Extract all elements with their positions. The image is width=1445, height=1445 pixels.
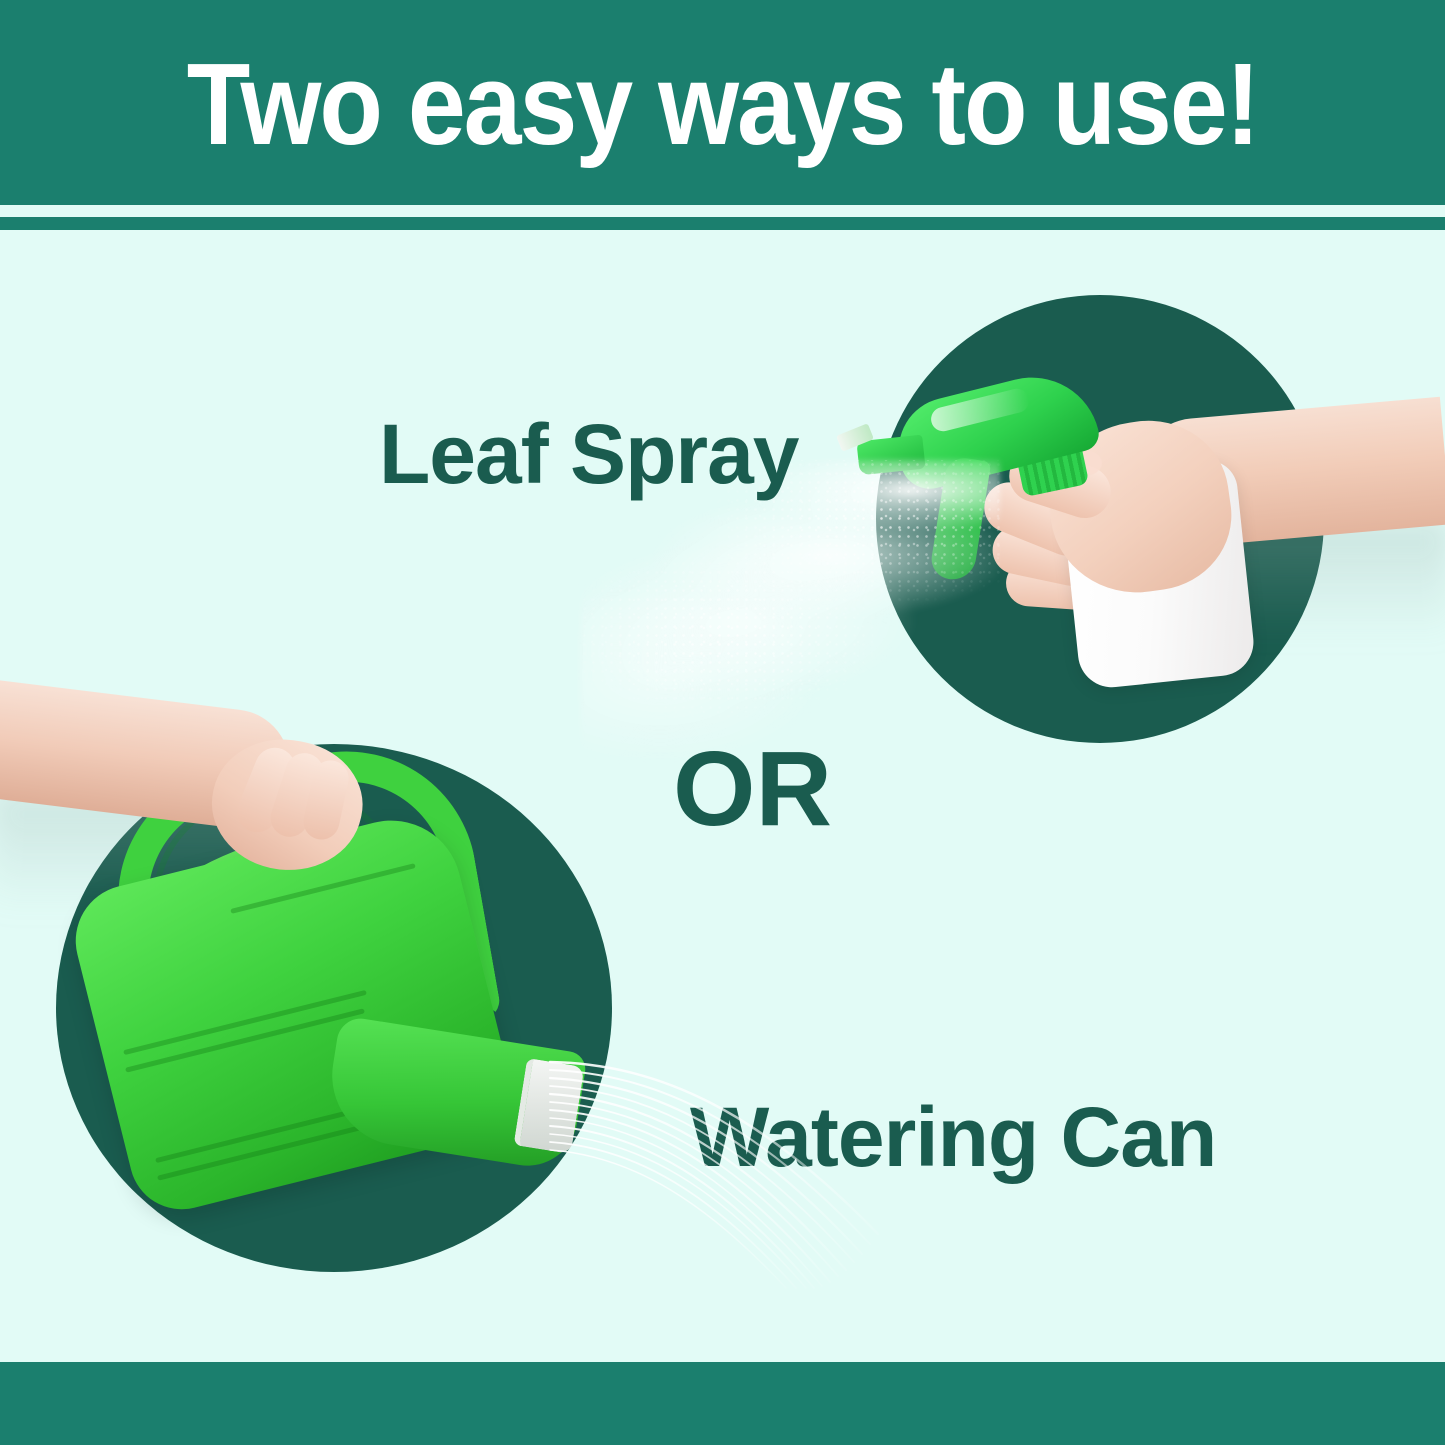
watering-can-spout-tip [513,1058,584,1154]
header-divider-rule [0,217,1445,230]
page-title: Two easy ways to use! [187,46,1259,162]
header-band: Two easy ways to use! [0,0,1445,205]
poster-canvas: Two easy ways to use! Leaf Spray OR Wate… [0,0,1445,1445]
leaf-spray-label: Leaf Spray [379,412,799,496]
watering-can-illustration [0,690,1000,1300]
footer-band [0,1362,1445,1445]
watering-can-water-stream [548,1058,968,1288]
